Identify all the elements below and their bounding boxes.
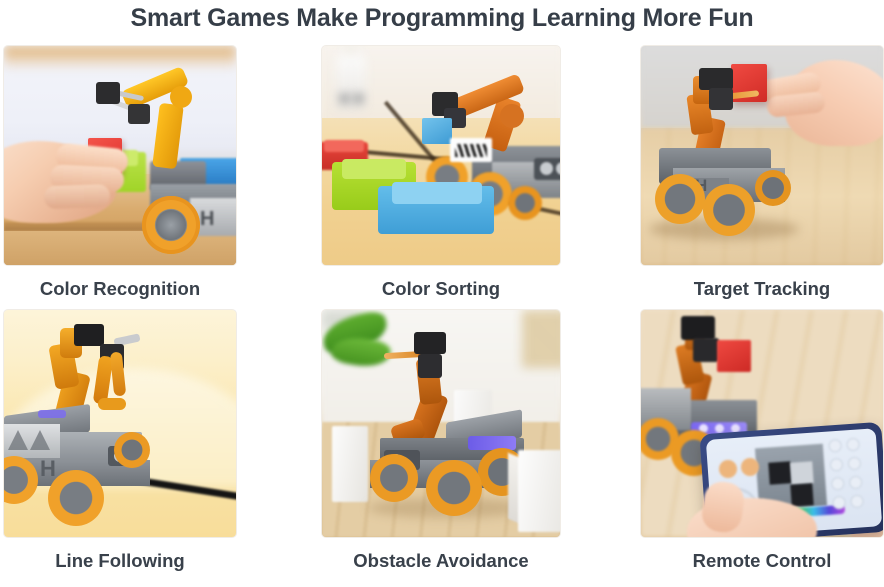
- pad-button[interactable]: [850, 494, 864, 508]
- blue-cube: [422, 118, 452, 144]
- obstacle-block: [518, 450, 561, 532]
- arm-joint: [170, 86, 192, 108]
- pad-button[interactable]: [831, 477, 845, 491]
- pad-button[interactable]: [830, 458, 844, 472]
- pad-button[interactable]: [846, 438, 860, 452]
- servo-block: [128, 104, 150, 124]
- camera-icon: [699, 68, 733, 90]
- camera-feed-detail: [790, 461, 813, 484]
- mecanum-wheel: [48, 470, 104, 526]
- marker-pattern: [455, 144, 487, 157]
- servo-block: [693, 338, 719, 362]
- photo-obstacle-avoidance[interactable]: [321, 309, 561, 538]
- gripper-tip: [98, 398, 126, 410]
- gallery-page: Smart Games Make Programming Learning Mo…: [0, 0, 884, 587]
- gallery-item-obstacle-avoidance[interactable]: Obstacle Avoidance: [321, 309, 561, 573]
- button-pad[interactable]: [828, 436, 882, 521]
- red-block: [717, 340, 751, 372]
- gallery-item-color-sorting[interactable]: Color Sorting: [321, 45, 561, 301]
- photo-color-recognition[interactable]: H: [3, 45, 237, 266]
- gallery-item-caption: Color Sorting: [321, 277, 561, 301]
- gallery-item-target-tracking[interactable]: H Target Tracking: [640, 45, 884, 301]
- red-tray-interior: [324, 140, 364, 152]
- desk-front: [4, 231, 236, 265]
- gallery-item-caption: Line Following: [3, 549, 237, 573]
- mecanum-wheel: [508, 186, 542, 220]
- wall-shadow: [4, 46, 236, 70]
- background-panel: [522, 310, 561, 368]
- camera-feed-detail: [790, 483, 813, 506]
- camera-feed-detail: [768, 461, 791, 484]
- chevron-marking-icon: [8, 430, 28, 450]
- arm-joint: [500, 104, 524, 128]
- gallery-item-remote-control[interactable]: Remote Control: [640, 309, 884, 573]
- gallery-item-line-following[interactable]: H Line Following: [3, 309, 237, 573]
- chevron-marking-icon: [30, 430, 50, 450]
- led-strip: [38, 410, 66, 418]
- sensor-eye: [540, 162, 553, 175]
- mecanum-wheel: [426, 460, 482, 516]
- gallery-item-caption: Target Tracking: [640, 277, 884, 301]
- photo-remote-control[interactable]: [640, 309, 884, 538]
- gallery-item-color-recognition[interactable]: H Color Recognition: [3, 45, 237, 301]
- photo-target-tracking[interactable]: H: [640, 45, 884, 266]
- gallery-item-caption: Obstacle Avoidance: [321, 549, 561, 573]
- servo-block: [418, 354, 442, 378]
- photo-line-following[interactable]: H: [3, 309, 237, 538]
- pad-button[interactable]: [828, 439, 842, 453]
- mecanum-wheel: [114, 432, 150, 468]
- mecanum-wheel: [370, 454, 418, 502]
- wheel-hub: [156, 210, 186, 240]
- chassis-marking: H: [200, 208, 220, 230]
- mecanum-wheel: [755, 170, 791, 206]
- led-indicator: [715, 424, 724, 433]
- camera-icon: [96, 82, 120, 104]
- photo-color-sorting[interactable]: [321, 45, 561, 266]
- obstacle-block: [332, 426, 368, 502]
- pad-button[interactable]: [832, 496, 846, 510]
- mecanum-wheel: [655, 174, 705, 224]
- camera-icon: [681, 316, 715, 340]
- background-bottle-detail: [340, 94, 349, 103]
- background-bottle-detail: [354, 94, 363, 103]
- camera-icon: [74, 324, 104, 346]
- gallery-item-caption: Color Recognition: [3, 277, 237, 301]
- pad-button[interactable]: [847, 457, 861, 471]
- green-tray-interior: [342, 159, 406, 179]
- led-strip: [468, 436, 516, 450]
- camera-icon: [414, 332, 446, 354]
- gallery-item-caption: Remote Control: [640, 549, 884, 573]
- mecanum-wheel: [703, 184, 755, 236]
- background-bottle-cap: [344, 45, 358, 56]
- pad-button[interactable]: [849, 476, 863, 490]
- page-title: Smart Games Make Programming Learning Mo…: [0, 2, 884, 34]
- finger-icon: [44, 184, 111, 209]
- servo-block: [709, 88, 733, 110]
- blue-tray-interior: [392, 182, 482, 204]
